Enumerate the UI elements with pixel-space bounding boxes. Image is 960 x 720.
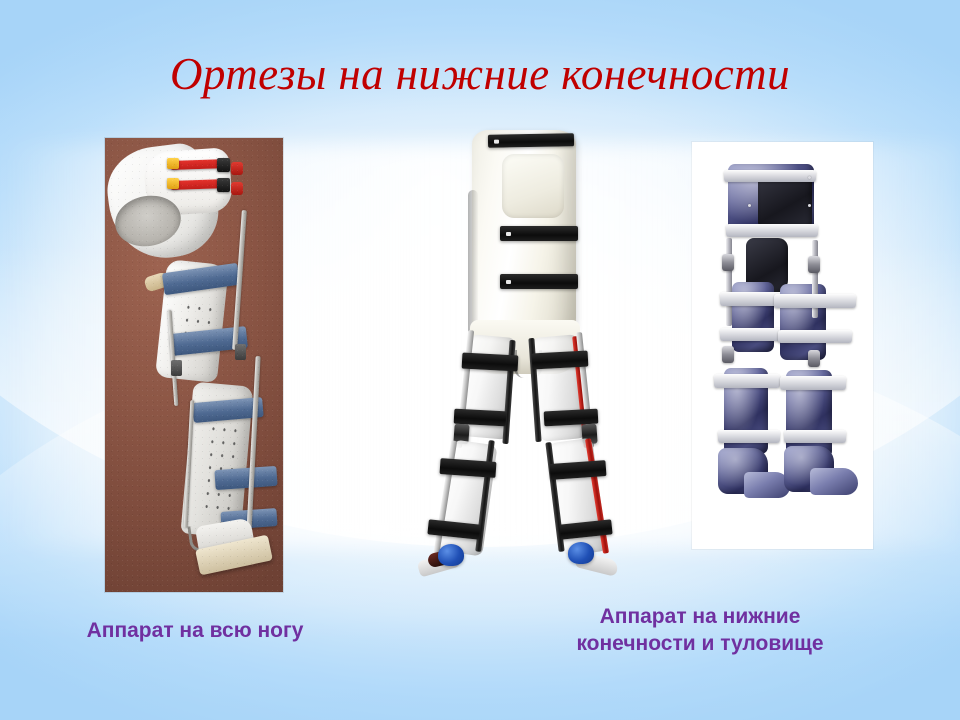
lateral-upright-shank <box>246 356 260 534</box>
caption-right-line2: конечности и туловище <box>530 631 870 658</box>
foot-plate <box>195 535 273 576</box>
slide-title: Ортезы на нижние конечности <box>0 48 960 101</box>
blue-strap-3 <box>192 397 263 423</box>
caption-left: Аппарат на всю ногу <box>30 618 360 645</box>
left-knee-joint <box>722 346 734 363</box>
left-hip-joint <box>722 254 734 271</box>
right-shank-strap-1 <box>550 460 607 480</box>
left-shank-band-1 <box>714 374 780 388</box>
right-foot-toe <box>810 468 858 495</box>
right-hip-joint <box>808 256 820 273</box>
thigh-cuff-opening <box>111 191 185 252</box>
figure-middle-photo <box>410 124 640 596</box>
red-strap-lower <box>171 179 227 190</box>
right-knee-joint <box>808 350 820 367</box>
right-thigh-band-2 <box>778 330 852 343</box>
right-shank-band-2 <box>784 430 846 443</box>
blue-strap-5 <box>220 508 277 530</box>
left-shank-band-2 <box>718 430 780 443</box>
trunk-strap-1 <box>488 133 574 147</box>
rivet-2 <box>808 204 811 207</box>
red-buckle-lower <box>231 182 243 195</box>
slide: Ортезы на нижние конечности <box>0 0 960 720</box>
right-shank-band-1 <box>780 376 846 390</box>
red-strap-upper <box>171 159 227 170</box>
red-buckle-upper <box>231 162 243 175</box>
black-buckle-lower <box>217 178 230 192</box>
blue-strap-2 <box>170 326 248 356</box>
caption-right-line1: Аппарат на нижние <box>530 604 870 631</box>
trunk-strap-2 <box>500 226 578 241</box>
knee-joint-lateral <box>235 344 246 360</box>
yellow-buckle-lower <box>167 178 179 189</box>
trunk-strap-3 <box>500 274 578 289</box>
rivet-3 <box>748 204 751 207</box>
knee-joint-medial <box>171 360 182 376</box>
thigh-perforations <box>179 300 220 352</box>
figure-left-photo <box>105 138 283 592</box>
medial-upright-shank <box>184 400 195 528</box>
black-buckle-upper <box>217 158 230 172</box>
pelvic-band-1 <box>724 170 816 182</box>
medial-upright-thigh <box>168 310 179 406</box>
left-thigh-upright <box>726 238 732 326</box>
left-foot-blue-cap <box>438 544 464 566</box>
lateral-upright-thigh <box>232 210 247 350</box>
right-thigh-strap-1 <box>532 351 589 370</box>
left-thigh-strap-1 <box>462 353 519 372</box>
figure-right-photo <box>692 142 873 549</box>
thigh-cuff-shell <box>105 140 223 264</box>
rivet-1 <box>808 176 811 179</box>
blue-strap-4 <box>214 466 277 490</box>
shank-perforations <box>200 409 239 517</box>
yellow-buckle-upper <box>167 158 179 169</box>
thigh-shell <box>155 259 229 383</box>
right-thigh-band-1 <box>774 294 856 308</box>
shank-shell <box>180 382 253 539</box>
trunk-relief-window <box>502 154 564 218</box>
caption-right: Аппарат на нижние конечности и туловище <box>530 604 870 658</box>
foot-shell <box>195 517 255 556</box>
blue-strap-1 <box>162 263 240 295</box>
ankle-stirrup <box>187 522 226 554</box>
cuff-lip <box>143 270 172 292</box>
thigh-cuff-top <box>143 147 233 217</box>
right-foot-blue-cap <box>568 542 594 564</box>
pelvic-band-2 <box>726 224 818 237</box>
